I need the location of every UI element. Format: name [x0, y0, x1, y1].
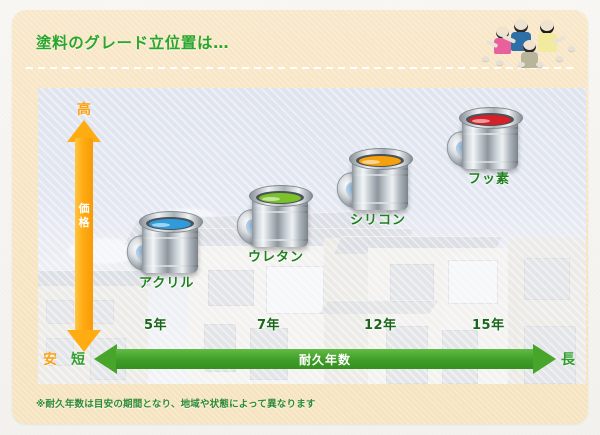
can-paint-gloss	[262, 197, 280, 201]
paint-label-acrylic: アクリル	[139, 272, 194, 291]
can-paint-gloss	[152, 223, 170, 227]
paint-label-silicone: シリコン	[350, 209, 406, 228]
paint-can-fluorine	[448, 113, 524, 169]
family-illustration-icon	[474, 16, 580, 70]
year-label-urethane: 7年	[257, 314, 280, 333]
paint-label-urethane: ウレタン	[248, 246, 304, 265]
axis-label-price-high: 高	[59, 99, 109, 119]
price-axis-title: 価格	[77, 202, 91, 230]
info-card: 塗料のグレード立位置は…	[12, 10, 588, 424]
year-label-silicone: 12年	[364, 314, 397, 333]
paint-can-acrylic	[128, 217, 204, 273]
durability-axis-arrow: 耐久年数	[94, 344, 556, 374]
paint-can-silicone	[338, 154, 414, 210]
year-label-fluorine: 15年	[472, 314, 505, 333]
paint-can-urethane	[238, 191, 314, 247]
can-paint-gloss	[472, 119, 490, 123]
page-title: 塗料のグレード立位置は…	[36, 31, 229, 53]
durability-axis-title: 耐久年数	[94, 351, 556, 368]
axis-label-duration-short: 短	[71, 349, 85, 369]
year-label-acrylic: 5年	[144, 314, 167, 333]
axis-label-price-low: 安	[43, 349, 57, 369]
paint-label-fluorine: フッ素	[468, 168, 510, 187]
footnote-text: ※耐久年数は目安の期間となり、地域や状態によって異なります	[36, 396, 316, 410]
can-paint-gloss	[362, 160, 380, 164]
axis-label-duration-long: 長	[561, 349, 575, 369]
price-axis-arrow: 価格	[67, 120, 101, 352]
price-arrow-shaft	[75, 138, 93, 334]
